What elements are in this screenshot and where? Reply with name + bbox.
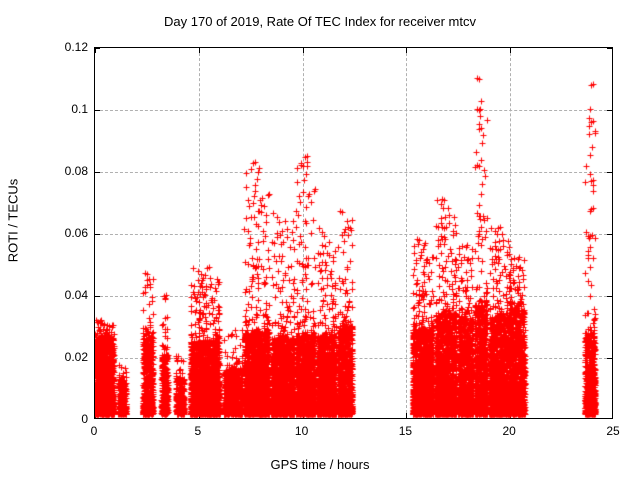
y-tick-label: 0.12 — [65, 40, 88, 54]
x-tick-label: 20 — [503, 424, 516, 438]
x-axis-label: GPS time / hours — [0, 457, 640, 472]
x-tick-label: 10 — [295, 424, 308, 438]
chart-canvas: Day 170 of 2019, Rate Of TEC Index for r… — [0, 0, 640, 480]
page-title: Day 170 of 2019, Rate Of TEC Index for r… — [0, 14, 640, 29]
y-tick-label: 0.1 — [71, 102, 88, 116]
y-tick-label: 0.08 — [65, 164, 88, 178]
y-tick-label: 0.06 — [65, 226, 88, 240]
x-axis-tick-labels: 0510152025 — [94, 424, 613, 444]
y-tick-label: 0.02 — [65, 350, 88, 364]
plot-area — [94, 47, 613, 419]
x-tick-label: 25 — [606, 424, 619, 438]
x-tick-label: 15 — [399, 424, 412, 438]
x-tick-label: 0 — [91, 424, 98, 438]
x-tick-label: 5 — [194, 424, 201, 438]
scatter-series-roti — [95, 48, 614, 420]
y-tick-label: 0.04 — [65, 288, 88, 302]
y-tick-label: 0 — [81, 412, 88, 426]
y-axis-label: ROTI / TECUs — [6, 146, 21, 296]
